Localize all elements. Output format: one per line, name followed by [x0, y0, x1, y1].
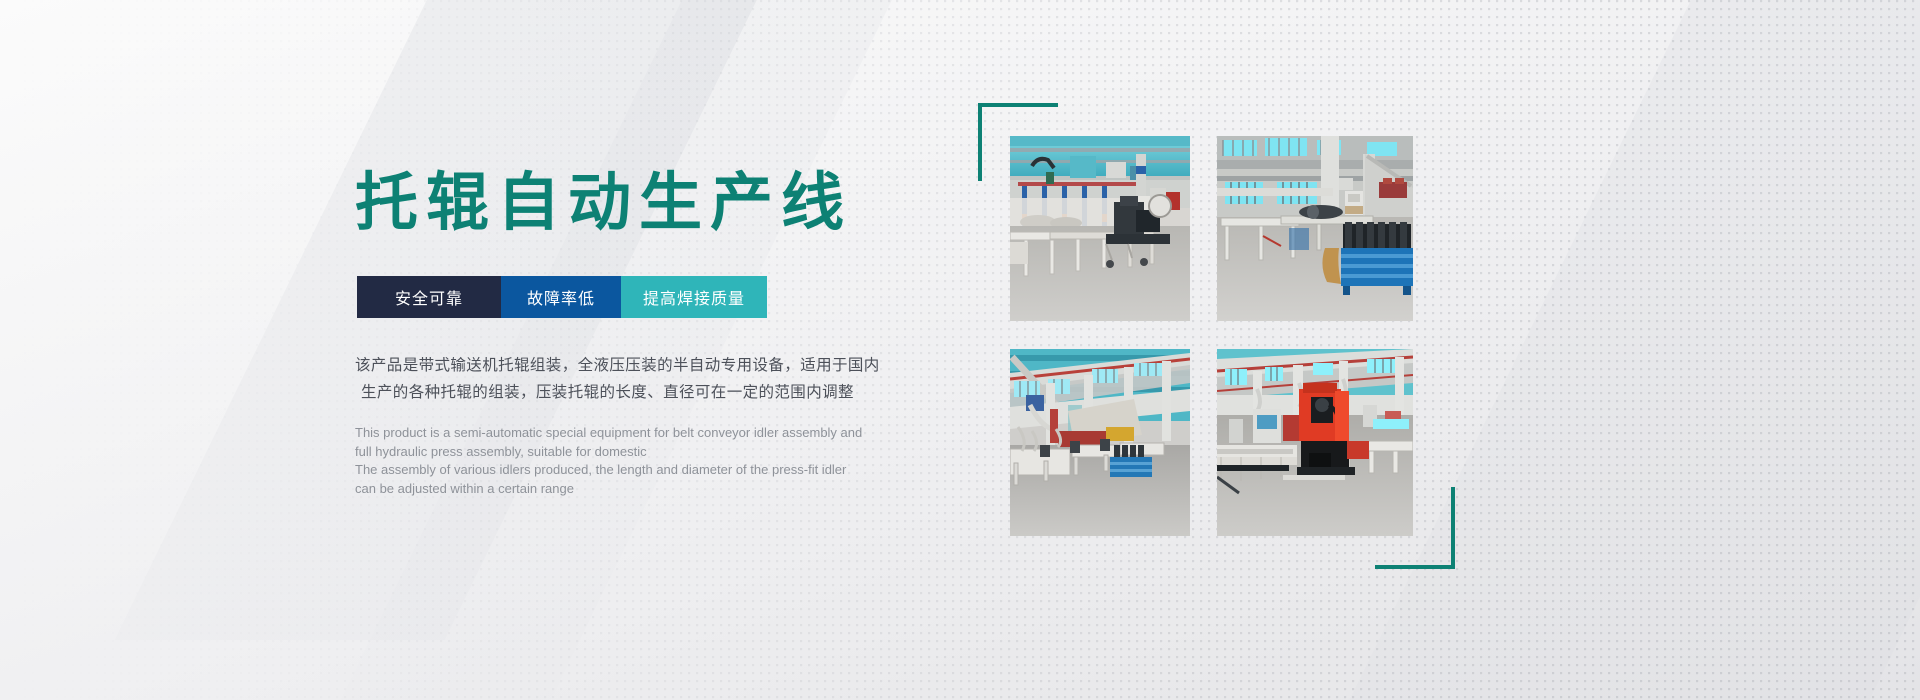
description-english-paragraph-1: This product is a semi-automatic special… — [355, 424, 915, 461]
product-photo-4[interactable] — [1217, 349, 1413, 536]
feature-tag-low-failure[interactable]: 故障率低 — [501, 276, 621, 318]
description-english-p1-line-1: This product is a semi-automatic special… — [355, 424, 915, 443]
description-chinese-line-2: 生产的各种托辊的组装，压装托辊的长度、直径可在一定的范围内调整 — [355, 379, 935, 406]
bracket-arm-horizontal — [978, 103, 1058, 107]
product-photo-3[interactable] — [1010, 349, 1190, 536]
description-english: This product is a semi-automatic special… — [355, 424, 915, 498]
feature-tag-row: 安全可靠 故障率低 提高焊接质量 — [357, 276, 767, 318]
description-english-paragraph-2: The assembly of various idlers produced,… — [355, 461, 915, 498]
bracket-arm-horizontal — [1375, 565, 1455, 569]
banner-content: 托辊自动生产线 安全可靠 故障率低 提高焊接质量 该产品是带式输送机托辊组装，全… — [355, 0, 975, 700]
feature-tag-safe[interactable]: 安全可靠 — [357, 276, 501, 318]
product-photo-grid — [1010, 136, 1414, 536]
description-english-p2-line-2: can be adjusted within a certain range — [355, 480, 915, 499]
bracket-arm-vertical — [1451, 487, 1455, 569]
description-english-p1-line-2: full hydraulic press assembly, suitable … — [355, 443, 915, 462]
product-photo-1[interactable] — [1010, 136, 1190, 321]
description-chinese-line-1: 该产品是带式输送机托辊组装，全液压压装的半自动专用设备，适用于国内 — [355, 352, 935, 379]
bracket-arm-vertical — [978, 103, 982, 181]
product-photo-2[interactable] — [1217, 136, 1413, 321]
description-chinese: 该产品是带式输送机托辊组装，全液压压装的半自动专用设备，适用于国内 生产的各种托… — [355, 352, 935, 406]
product-banner: 托辊自动生产线 安全可靠 故障率低 提高焊接质量 该产品是带式输送机托辊组装，全… — [0, 0, 1920, 700]
description-english-p2-line-1: The assembly of various idlers produced,… — [355, 461, 915, 480]
page-title: 托辊自动生产线 — [355, 172, 852, 235]
feature-tag-weld-quality[interactable]: 提高焊接质量 — [621, 276, 767, 318]
